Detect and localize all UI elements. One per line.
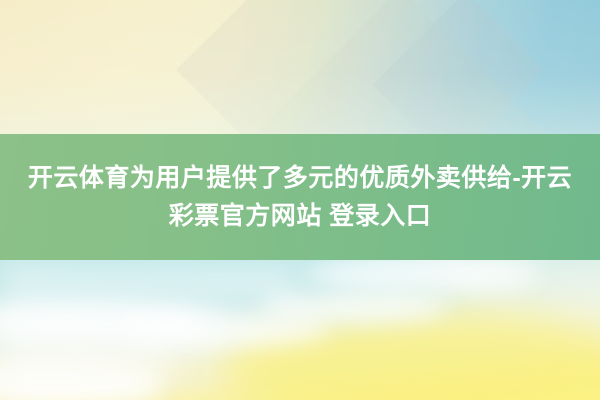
cloud-shape	[0, 378, 160, 400]
banner-image: 开云体育为用户提供了多元的优质外卖供给-开云 彩票官方网站 登录入口	[0, 0, 600, 400]
cloud-shape	[0, 260, 300, 306]
banner-title-line-2: 彩票官方网站 登录入口	[169, 197, 431, 235]
cloud-shape	[260, 290, 450, 324]
banner-title-line-1: 开云体育为用户提供了多元的优质外卖供给-开云	[28, 159, 572, 197]
cloud-shape	[0, 306, 220, 344]
bottom-sky-background	[0, 260, 600, 400]
top-gradient-overlay	[0, 0, 600, 135]
title-band: 开云体育为用户提供了多元的优质外卖供给-开云 彩票官方网站 登录入口	[0, 134, 600, 260]
cloud-layer	[0, 260, 600, 400]
